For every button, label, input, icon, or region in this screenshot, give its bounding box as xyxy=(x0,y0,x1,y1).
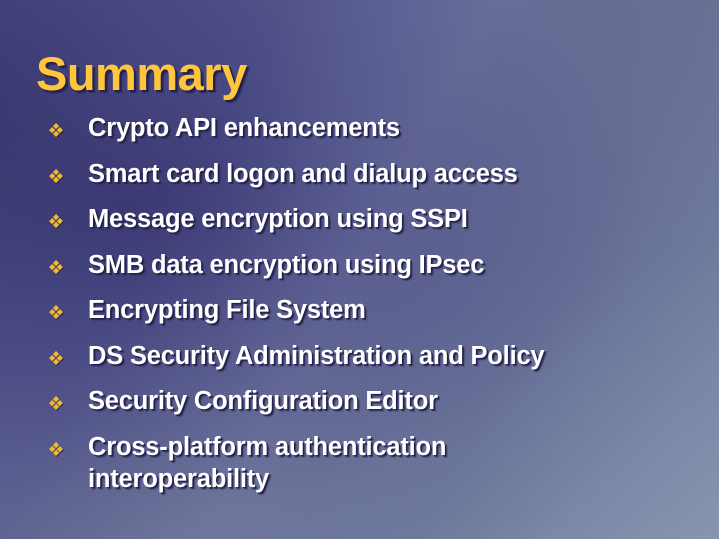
slide-content: Summary ❖Crypto API enhancements❖Smart c… xyxy=(0,0,719,539)
bullet-item-label: Security Configuration Editor xyxy=(88,385,438,417)
diamond-bullet-icon: ❖ xyxy=(44,344,68,376)
bullet-item-line: SMB data encryption using IPsec xyxy=(88,249,484,281)
bullet-item-label: Crypto API enhancements xyxy=(88,112,400,144)
bullet-item-2: ❖Smart card logon and dialup access xyxy=(40,158,711,204)
bullet-item-label: Encrypting File System xyxy=(88,294,366,326)
bullet-item-3: ❖Message encryption using SSPI xyxy=(40,203,711,249)
diamond-bullet-icon: ❖ xyxy=(44,389,68,421)
bullet-item-line: Smart card logon and dialup access xyxy=(88,158,518,190)
bullet-item-5: ❖Encrypting File System xyxy=(40,294,711,340)
bullet-item-6: ❖DS Security Administration and Policy xyxy=(40,340,711,386)
bullet-item-4: ❖SMB data encryption using IPsec xyxy=(40,249,711,295)
bullet-item-8: ❖Cross-platform authenticationinteropera… xyxy=(40,431,711,495)
bullet-item-line: Message encryption using SSPI xyxy=(88,203,468,235)
presentation-slide: Summary ❖Crypto API enhancements❖Smart c… xyxy=(0,0,719,539)
bullet-item-label: SMB data encryption using IPsec xyxy=(88,249,484,281)
diamond-bullet-icon: ❖ xyxy=(44,162,68,194)
bullet-item-line: Encrypting File System xyxy=(88,294,366,326)
diamond-bullet-icon: ❖ xyxy=(44,253,68,285)
diamond-bullet-icon: ❖ xyxy=(44,207,68,239)
bullet-item-label: Message encryption using SSPI xyxy=(88,203,468,235)
diamond-bullet-icon: ❖ xyxy=(44,116,68,148)
diamond-bullet-icon: ❖ xyxy=(44,298,68,330)
bullet-item-line: Crypto API enhancements xyxy=(88,112,400,144)
bullet-item-7: ❖Security Configuration Editor xyxy=(40,385,711,431)
slide-title: Summary xyxy=(36,49,247,98)
bullet-item-line: interoperability xyxy=(88,463,446,495)
bullet-item-line: Security Configuration Editor xyxy=(88,385,438,417)
bullet-item-label: Cross-platform authenticationinteroperab… xyxy=(88,431,446,495)
bullet-item-line: Cross-platform authentication xyxy=(88,431,446,463)
bullet-list: ❖Crypto API enhancements❖Smart card logo… xyxy=(40,112,711,495)
bullet-item-line: DS Security Administration and Policy xyxy=(88,340,544,372)
bullet-item-1: ❖Crypto API enhancements xyxy=(40,112,711,158)
diamond-bullet-icon: ❖ xyxy=(44,435,68,467)
bullet-item-label: Smart card logon and dialup access xyxy=(88,158,518,190)
bullet-item-label: DS Security Administration and Policy xyxy=(88,340,544,372)
